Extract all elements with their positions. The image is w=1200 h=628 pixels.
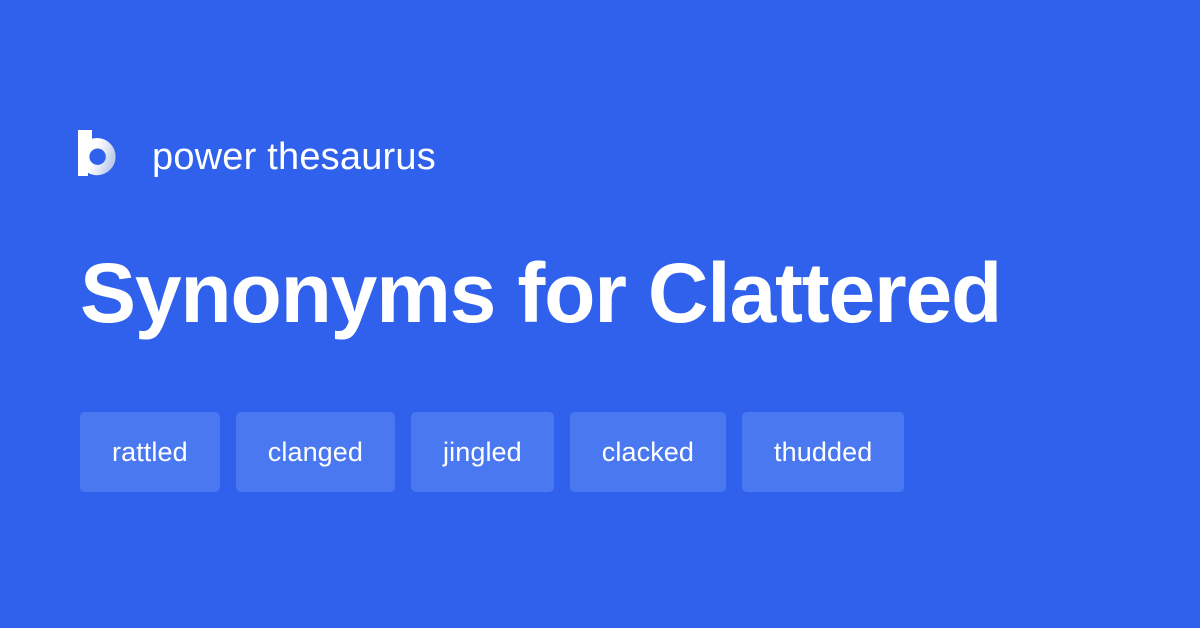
synonym-chip[interactable]: clanged <box>236 412 395 492</box>
brand-lockup[interactable]: power thesaurus <box>78 128 436 184</box>
synonym-chip-row: rattled clanged jingled clacked thudded <box>80 412 1120 492</box>
synonym-chip[interactable]: clacked <box>570 412 726 492</box>
brand-name: power thesaurus <box>152 138 436 176</box>
synonym-chip[interactable]: thudded <box>742 412 904 492</box>
page-title: Synonyms for Clattered <box>80 246 1140 340</box>
synonym-chip[interactable]: jingled <box>411 412 554 492</box>
power-thesaurus-b-logo-icon <box>78 130 124 182</box>
social-share-card: power thesaurus Synonyms for Clattered r… <box>0 0 1200 628</box>
synonym-chip[interactable]: rattled <box>80 412 220 492</box>
